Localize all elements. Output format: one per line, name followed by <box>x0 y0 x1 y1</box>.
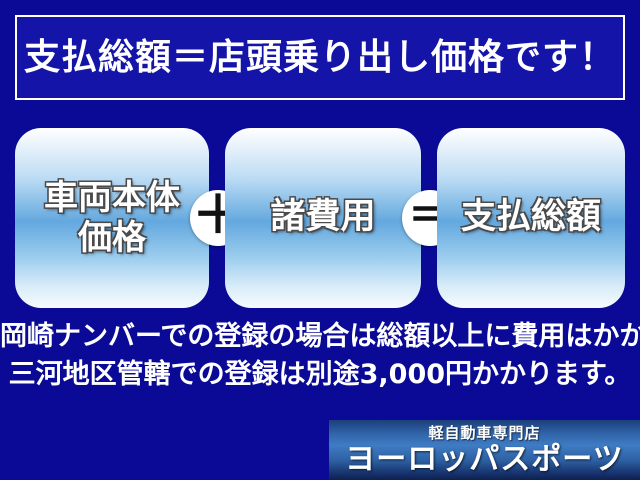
vehicle-price-label: 車両本体 価格 <box>40 178 184 258</box>
note-line-2: 三河地区管轄での登録は別途3,000円かかります。 <box>0 356 640 394</box>
vehicle-price-line-2: 価格 <box>44 218 180 258</box>
total-payment-line-1: 支払総額 <box>461 197 601 238</box>
vehicle-price-line-1: 車両本体 <box>44 178 180 218</box>
fees-line-1: 諸費用 <box>270 197 375 238</box>
notes-section: 岡崎ナンバーでの登録の場合は総額以上に費用はかかりません。 三河地区管轄での登録… <box>0 318 640 395</box>
shop-logo-subtitle: 軽自動車専門店 <box>428 425 540 442</box>
formula-box-total-payment: 支払総額 <box>437 128 625 308</box>
formula-box-fees: 諸費用 <box>225 128 421 308</box>
header-title: 支払総額＝店頭乗り出し価格です！ <box>24 40 616 76</box>
formula-box-vehicle-price: 車両本体 価格 <box>15 128 209 308</box>
total-payment-label: 支払総額 <box>457 197 605 238</box>
shop-logo: 軽自動車専門店 ヨーロッパスポーツ <box>329 420 640 480</box>
price-banner: 支払総額＝店頭乗り出し価格です！ 車両本体 価格 ＋ 諸費用 ＝ 支払総額 岡崎… <box>0 0 640 480</box>
shop-logo-name: ヨーロッパスポーツ <box>345 444 623 476</box>
fees-label: 諸費用 <box>266 197 379 238</box>
header-banner: 支払総額＝店頭乗り出し価格です！ <box>15 15 625 100</box>
note-line-1: 岡崎ナンバーでの登録の場合は総額以上に費用はかかりません。 <box>0 318 640 356</box>
